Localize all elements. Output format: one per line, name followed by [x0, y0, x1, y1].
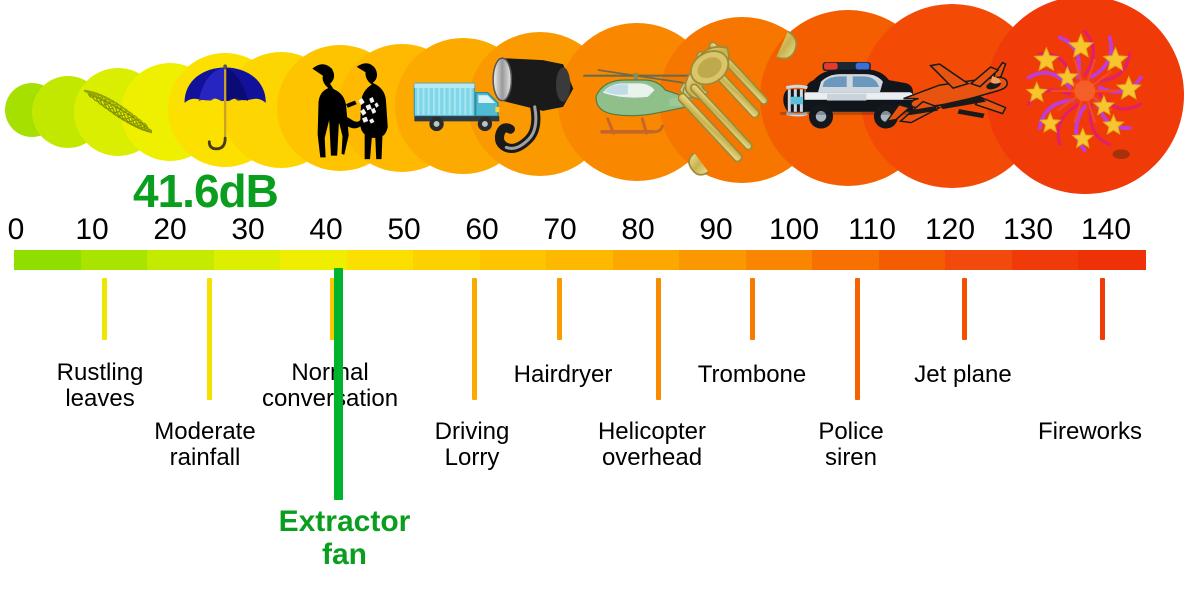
axis-tick-120: 120 — [925, 214, 975, 246]
label-moderate-rainfall: Moderate rainfall — [154, 419, 255, 471]
current-reading-value: 41.6dB — [133, 168, 278, 214]
gradient-segment — [1078, 250, 1145, 270]
umbrella-icon — [181, 66, 269, 154]
axis-tick-10: 10 — [75, 214, 108, 246]
tick-driving-lorry — [472, 278, 477, 400]
axis-tick-20: 20 — [153, 214, 186, 246]
axis-tick-80: 80 — [621, 214, 654, 246]
label-jet-plane: Jet plane — [914, 362, 1011, 388]
fern-leaf-icon — [84, 78, 152, 146]
axis-tick-100: 100 — [769, 214, 819, 246]
label-normal-conversation: Normal conversation — [262, 360, 398, 412]
tick-hairdryer — [557, 278, 562, 340]
label-fireworks: Fireworks — [1038, 419, 1142, 445]
fireworks-icon — [1008, 18, 1161, 171]
gradient-segment — [81, 250, 148, 270]
label-rustling-leaves: Rustling leaves — [57, 360, 144, 412]
decibel-scale-infographic: 41.6dB 010203040506070809010011012013014… — [0, 0, 1200, 602]
axis-tick-90: 90 — [699, 214, 732, 246]
tick-rustling-leaves — [102, 278, 107, 340]
axis-tick-50: 50 — [387, 214, 420, 246]
tick-trombone — [750, 278, 755, 340]
label-police-siren: Police siren — [818, 419, 883, 471]
jet-plane-icon — [881, 25, 1024, 168]
decibel-gradient-bar — [14, 250, 1145, 270]
gradient-segment — [679, 250, 746, 270]
tick-moderate-rainfall — [207, 278, 212, 400]
two-people-icon — [291, 59, 389, 157]
gradient-segment — [1012, 250, 1079, 270]
axis-tick-70: 70 — [543, 214, 576, 246]
gradient-segment — [147, 250, 214, 270]
axis-tick-40: 40 — [309, 214, 342, 246]
gradient-segment — [480, 250, 547, 270]
gradient-segment — [546, 250, 613, 270]
tick-fireworks — [1100, 278, 1105, 340]
label-hairdryer: Hairdryer — [514, 362, 613, 388]
axis-tick-110: 110 — [848, 214, 896, 246]
axis-tick-60: 60 — [465, 214, 498, 246]
axis-tick-30: 30 — [231, 214, 264, 246]
gradient-segment — [280, 250, 347, 270]
tick-helicopter-overhead — [656, 278, 661, 400]
gradient-segment — [214, 250, 281, 270]
gradient-segment — [14, 250, 81, 270]
tick-jet-plane — [962, 278, 967, 340]
current-reading-marker — [334, 268, 343, 500]
gradient-segment — [613, 250, 680, 270]
axis-tick-140: 140 — [1081, 214, 1131, 246]
label-trombone: Trombone — [698, 362, 807, 388]
gradient-segment — [812, 250, 879, 270]
axis-tick-130: 130 — [1003, 214, 1053, 246]
gradient-segment — [879, 250, 946, 270]
gradient-segment — [746, 250, 813, 270]
tick-police-siren — [855, 278, 860, 400]
label-driving-lorry: Driving Lorry — [435, 419, 510, 471]
label-helicopter-overhead: Helicopter overhead — [598, 419, 706, 471]
axis-tick-labels: 0102030405060708090100110120130140 — [0, 214, 1200, 248]
gradient-segment — [413, 250, 480, 270]
current-reading-label: Extractor fan — [279, 505, 411, 571]
gradient-segment — [945, 250, 1012, 270]
gradient-segment — [347, 250, 414, 270]
axis-tick-0: 0 — [8, 214, 25, 246]
